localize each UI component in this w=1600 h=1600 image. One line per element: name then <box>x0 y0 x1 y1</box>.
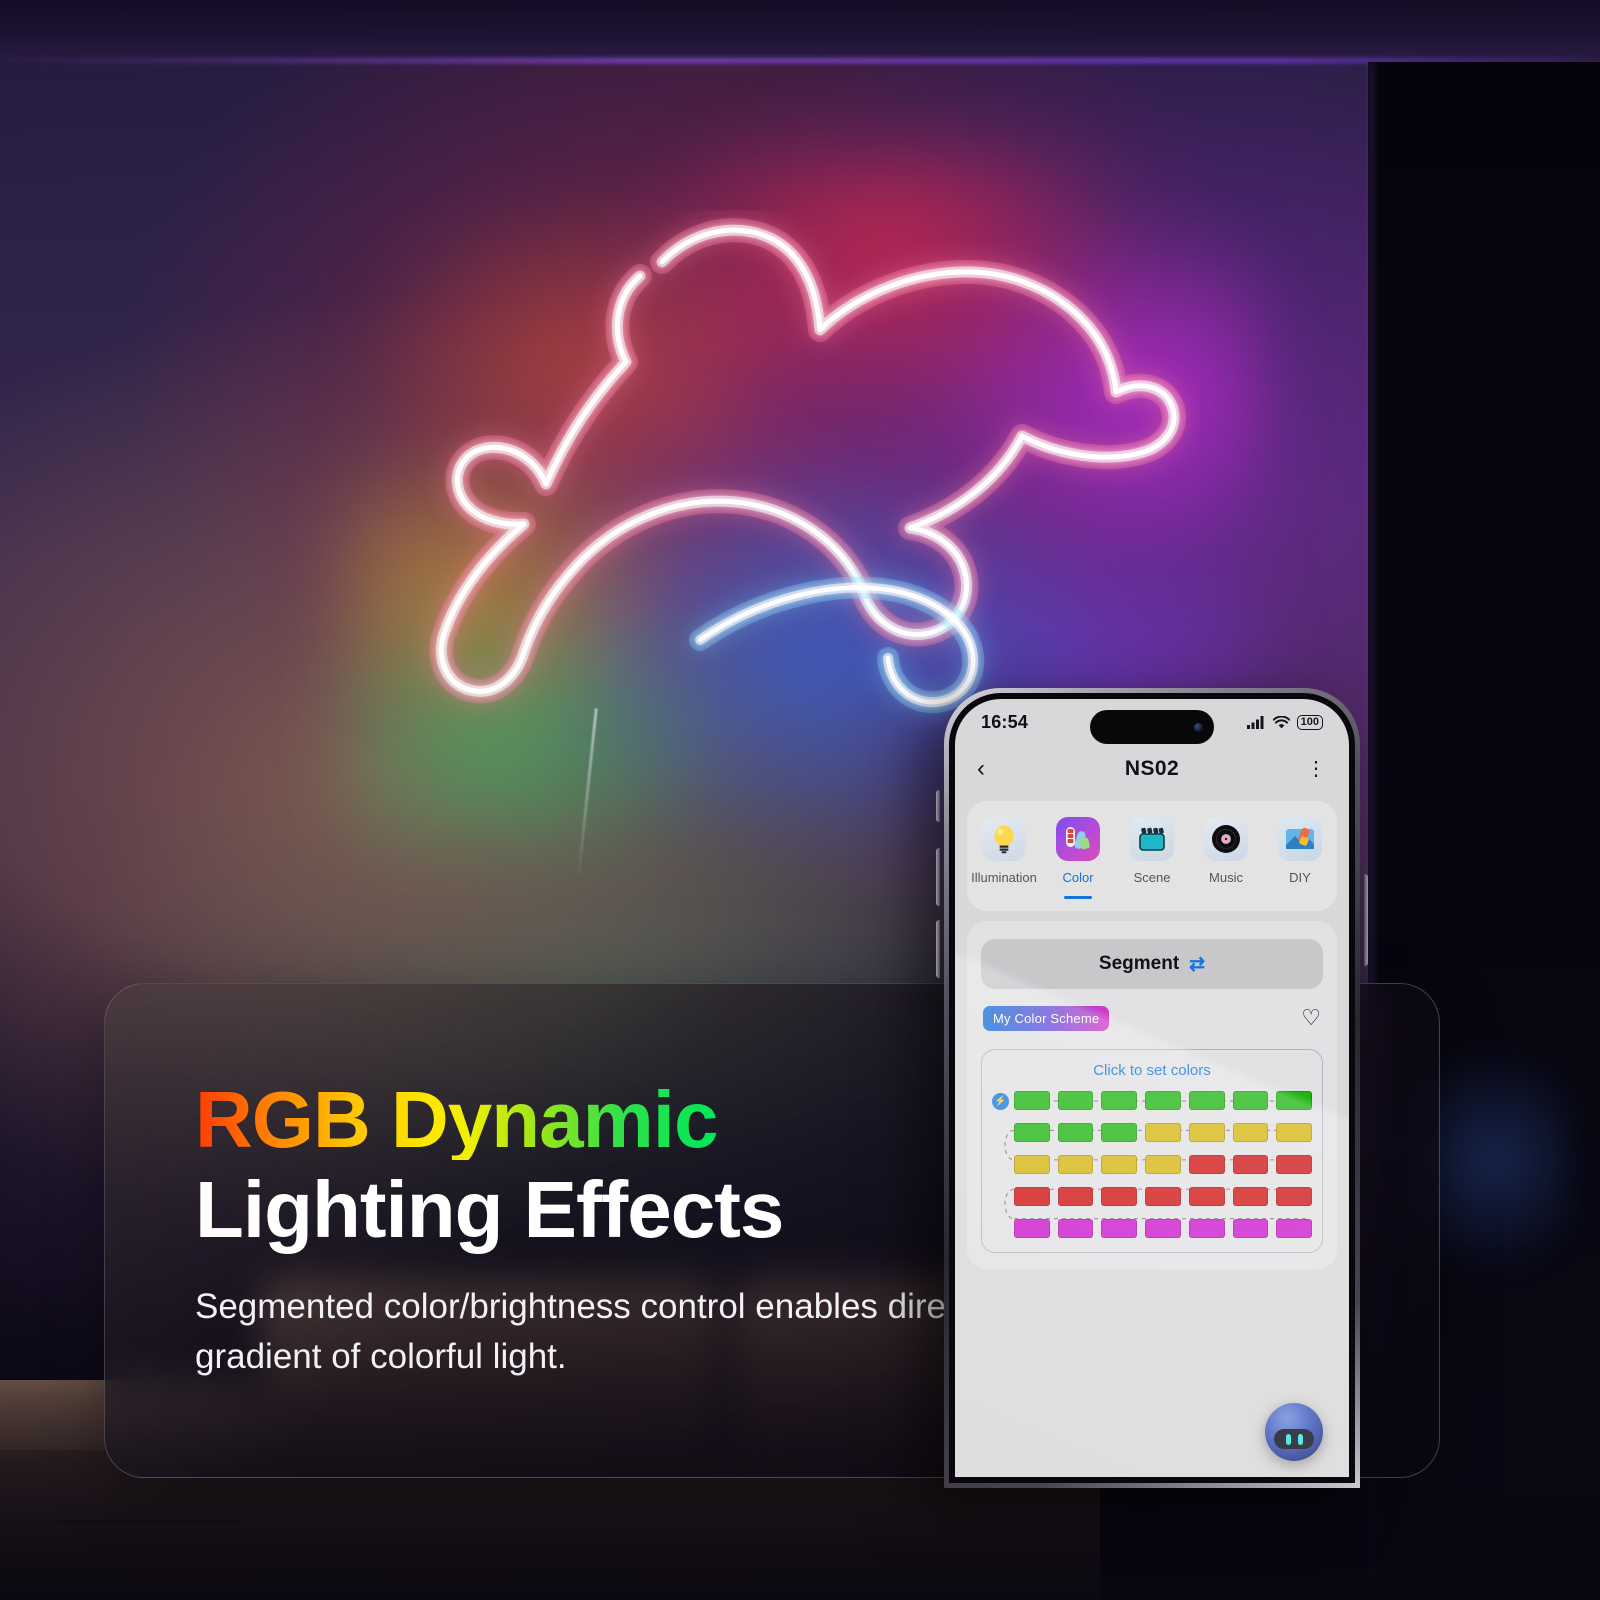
phone-bezel: 16:54 100 <box>949 693 1355 1483</box>
grid-cell[interactable] <box>1145 1219 1181 1238</box>
grid-cell[interactable] <box>1101 1091 1137 1110</box>
status-indicators: 100 <box>1247 715 1323 730</box>
segment-selector[interactable]: Segment ⇄ <box>981 939 1323 989</box>
wifi-icon <box>1273 716 1290 729</box>
grid-cell[interactable] <box>1101 1123 1137 1142</box>
mode-tab-bar: Illumination <box>967 801 1337 911</box>
headline-line-2: Lighting Effects <box>195 1170 783 1250</box>
film-clapper-icon <box>1130 817 1174 861</box>
grid-cell[interactable] <box>1058 1219 1094 1238</box>
tab-color[interactable]: Color <box>1041 817 1115 899</box>
grid-cell[interactable] <box>1276 1091 1312 1110</box>
battery-indicator: 100 <box>1297 715 1323 730</box>
grid-cell[interactable] <box>1189 1091 1225 1110</box>
tab-label: Illumination <box>971 870 1037 885</box>
dynamic-island <box>1090 710 1214 744</box>
ai-robot-assistant-icon[interactable] <box>1265 1403 1323 1461</box>
grid-row <box>1014 1187 1312 1206</box>
more-options-button[interactable]: ⋮ <box>1306 759 1327 779</box>
scheme-row: My Color Scheme ♡ <box>981 1005 1323 1031</box>
grid-cell[interactable] <box>1189 1187 1225 1206</box>
assistant-eye-right <box>1298 1434 1303 1445</box>
tab-label: Color <box>1062 870 1093 885</box>
volume-down-button[interactable] <box>936 920 940 978</box>
tab-label: Scene <box>1134 870 1171 885</box>
grid-cell[interactable] <box>1058 1091 1094 1110</box>
grid-cell[interactable] <box>1058 1155 1094 1174</box>
grid-cell[interactable] <box>1014 1091 1050 1110</box>
grid-row <box>1014 1219 1312 1238</box>
ceiling-light-strip <box>0 58 1600 63</box>
grid-cell[interactable] <box>1014 1187 1050 1206</box>
grid-cell[interactable] <box>1233 1219 1269 1238</box>
grid-cell[interactable] <box>1014 1123 1050 1142</box>
heart-outline-icon[interactable]: ♡ <box>1301 1005 1321 1031</box>
segment-color-grid[interactable]: ⚡ <box>992 1091 1312 1238</box>
grid-cell[interactable] <box>1014 1155 1050 1174</box>
volume-up-button[interactable] <box>936 848 940 906</box>
tab-diy[interactable]: DIY <box>1263 817 1337 899</box>
assistant-visor <box>1274 1429 1314 1449</box>
tab-music[interactable]: Music <box>1189 817 1263 899</box>
tab-scene[interactable]: Scene <box>1115 817 1189 899</box>
tab-illumination[interactable]: Illumination <box>967 817 1041 899</box>
grid-cell[interactable] <box>1233 1187 1269 1206</box>
grid-cell[interactable] <box>1145 1123 1181 1142</box>
headline-line-1: RGB Dynamic <box>195 1080 717 1160</box>
grid-cell[interactable] <box>1276 1155 1312 1174</box>
product-marketing-scene: RGB Dynamic Lighting Effects Segmented c… <box>0 0 1600 1600</box>
color-palette-icon <box>1056 817 1100 861</box>
phone-screen: 16:54 100 <box>955 699 1349 1477</box>
grid-row <box>1014 1155 1312 1174</box>
grid-hint-label: Click to set colors <box>992 1062 1312 1079</box>
lightbulb-icon <box>982 817 1026 861</box>
active-tab-underline <box>1064 896 1092 899</box>
status-time: 16:54 <box>981 712 1028 733</box>
grid-cell[interactable] <box>1233 1123 1269 1142</box>
grid-cell[interactable] <box>1101 1187 1137 1206</box>
grid-cell[interactable] <box>1101 1155 1137 1174</box>
grid-cell[interactable] <box>1145 1091 1181 1110</box>
color-content-card: Segment ⇄ My Color Scheme ♡ Click to set… <box>967 921 1337 1269</box>
grid-cell[interactable] <box>1233 1155 1269 1174</box>
segment-label: Segment <box>1099 953 1179 975</box>
tab-label: Music <box>1209 870 1243 885</box>
grid-cell[interactable] <box>1276 1123 1312 1142</box>
grid-cell[interactable] <box>1058 1187 1094 1206</box>
back-button[interactable]: ‹ <box>977 757 985 781</box>
grid-cell[interactable] <box>1014 1219 1050 1238</box>
grid-cell[interactable] <box>1276 1219 1312 1238</box>
grid-cell[interactable] <box>1145 1187 1181 1206</box>
phone-mockup: 16:54 100 <box>944 688 1360 1488</box>
my-color-scheme-pill[interactable]: My Color Scheme <box>983 1006 1109 1031</box>
grid-row <box>1014 1123 1312 1142</box>
grid-cell[interactable] <box>1233 1091 1269 1110</box>
grid-cell[interactable] <box>1145 1155 1181 1174</box>
tab-label: DIY <box>1289 870 1311 885</box>
lightning-bolt-icon: ⚡ <box>992 1093 1009 1110</box>
swap-arrows-icon[interactable]: ⇄ <box>1189 953 1205 976</box>
assistant-eye-left <box>1286 1434 1291 1445</box>
ceiling <box>0 0 1600 62</box>
vinyl-record-icon <box>1204 817 1248 861</box>
app-nav-bar: ‹ NS02 ⋮ <box>955 745 1349 793</box>
page-title: NS02 <box>955 757 1349 781</box>
grid-row <box>1014 1091 1312 1110</box>
grid-cell[interactable] <box>1101 1219 1137 1238</box>
mute-switch[interactable] <box>936 790 940 822</box>
diy-brush-icon <box>1278 817 1322 861</box>
grid-cell[interactable] <box>1189 1123 1225 1142</box>
grid-cell[interactable] <box>1189 1155 1225 1174</box>
grid-cell[interactable] <box>1058 1123 1094 1142</box>
color-grid-panel: Click to set colors ⚡ <box>981 1049 1323 1253</box>
grid-cell[interactable] <box>1189 1219 1225 1238</box>
grid-cell[interactable] <box>1276 1187 1312 1206</box>
power-button[interactable] <box>1364 874 1368 966</box>
front-camera-icon <box>1194 723 1203 732</box>
cellular-signal-icon <box>1247 716 1266 729</box>
